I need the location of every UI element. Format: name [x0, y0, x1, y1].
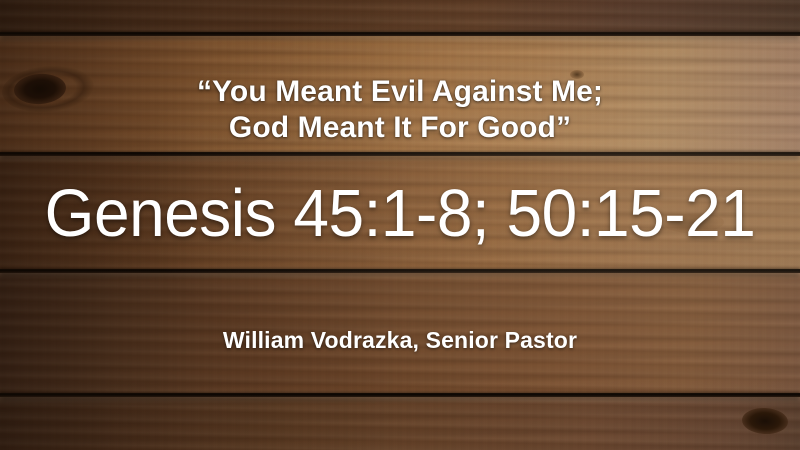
sermon-title-slide: “You Meant Evil Against Me; God Meant It…: [0, 0, 800, 450]
speaker-name-and-role: William Vodrazka, Senior Pastor: [0, 326, 800, 354]
slide-content: “You Meant Evil Against Me; God Meant It…: [0, 0, 800, 450]
scripture-reference: Genesis 45:1-8; 50:15-21: [18, 178, 782, 250]
sermon-title-line-2: God Meant It For Good”: [0, 110, 800, 146]
sermon-title: “You Meant Evil Against Me; God Meant It…: [0, 74, 800, 146]
sermon-title-line-1: “You Meant Evil Against Me;: [0, 74, 800, 110]
